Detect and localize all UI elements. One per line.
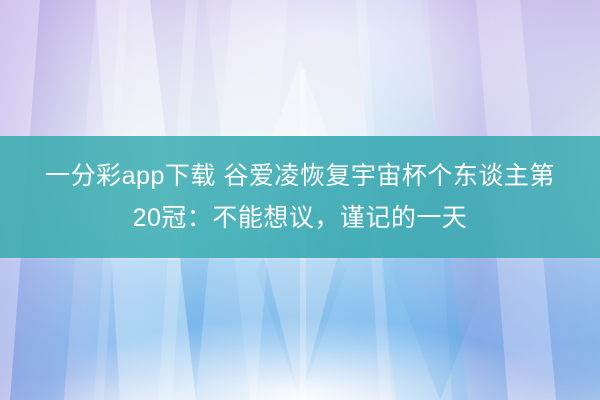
watermark-text: · · · bbox=[0, 387, 600, 397]
poster-canvas: · · · 一分彩app下载 谷爱凌恢复宇宙杯个东谈主第 20冠：不能想议，谨记… bbox=[0, 0, 600, 400]
headline-line-1: 一分彩app下载 谷爱凌恢复宇宙杯个东谈主第 bbox=[45, 155, 555, 197]
caption-band: 一分彩app下载 谷爱凌恢复宇宙杯个东谈主第 20冠：不能想议，谨记的一天 bbox=[0, 136, 600, 258]
headline-line-2: 20冠：不能想议，谨记的一天 bbox=[133, 197, 468, 239]
